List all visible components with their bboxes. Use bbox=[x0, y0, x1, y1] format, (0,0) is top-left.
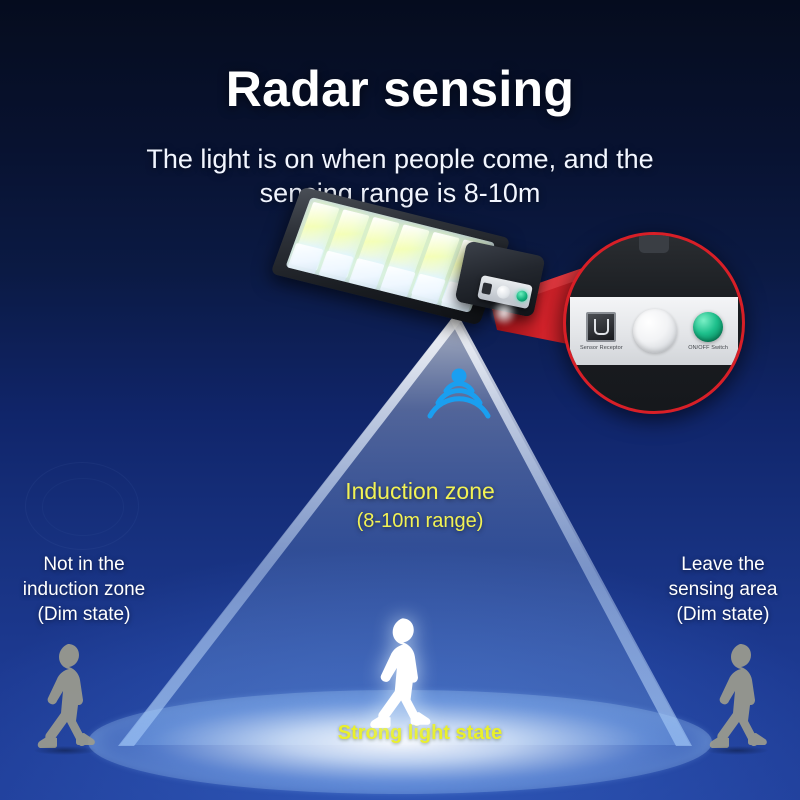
induction-zone-label: Induction zone (8-10m range) bbox=[290, 476, 550, 536]
radar-wave-icon bbox=[424, 368, 494, 422]
infographic-canvas: Radar sensing The light is on when peopl… bbox=[0, 0, 800, 800]
right-zone-line-1: Leave the bbox=[638, 552, 800, 577]
page-title: Radar sensing bbox=[0, 60, 800, 118]
walking-person-right bbox=[700, 638, 774, 750]
solar-street-light-product bbox=[255, 196, 545, 356]
led-cell bbox=[349, 258, 385, 289]
callout-switch-group: ON/OFF Switch bbox=[688, 312, 728, 351]
sensor-receptor-icon bbox=[482, 282, 493, 295]
sensor-receptor-label: Sensor Receptor bbox=[580, 345, 623, 351]
left-zone-line-3: (Dim state) bbox=[0, 602, 174, 627]
callout-housing-notch bbox=[639, 232, 669, 253]
callout-control-plate: Sensor Receptor ON/OFF Switch bbox=[570, 297, 738, 365]
left-zone-line-1: Not in the bbox=[0, 552, 174, 577]
callout-pir-group bbox=[633, 309, 677, 353]
lamp-emitted-glow bbox=[491, 300, 517, 326]
induction-zone-line-1: Induction zone bbox=[290, 476, 550, 506]
led-cell bbox=[410, 273, 446, 304]
background-watermark bbox=[25, 462, 139, 550]
walking-person-center bbox=[358, 612, 440, 730]
sensor-receptor-icon bbox=[586, 312, 616, 342]
on-off-switch-icon bbox=[693, 312, 723, 342]
subtitle-line-1: The light is on when people come, and th… bbox=[0, 142, 800, 176]
right-zone-line-3: (Dim state) bbox=[638, 602, 800, 627]
led-cell bbox=[380, 266, 416, 297]
led-cell bbox=[318, 250, 354, 281]
walking-person-left bbox=[28, 638, 102, 750]
pir-lens-icon bbox=[633, 309, 677, 353]
figure-shadow bbox=[34, 746, 96, 755]
right-zone-line-2: sensing area bbox=[638, 577, 800, 602]
on-off-switch-icon bbox=[515, 289, 528, 302]
pir-lens-icon bbox=[496, 284, 511, 299]
left-zone-line-2: induction zone bbox=[0, 577, 174, 602]
right-zone-label: Leave the sensing area (Dim state) bbox=[638, 552, 800, 627]
on-off-switch-label: ON/OFF Switch bbox=[688, 345, 728, 351]
left-zone-label: Not in the induction zone (Dim state) bbox=[0, 552, 174, 627]
sensor-panel-callout: Sensor Receptor ON/OFF Switch bbox=[563, 232, 745, 414]
led-cell bbox=[287, 243, 323, 274]
figure-shadow bbox=[706, 746, 768, 755]
callout-receptor-group: Sensor Receptor bbox=[580, 312, 623, 351]
induction-zone-line-2: (8-10m range) bbox=[290, 506, 550, 536]
